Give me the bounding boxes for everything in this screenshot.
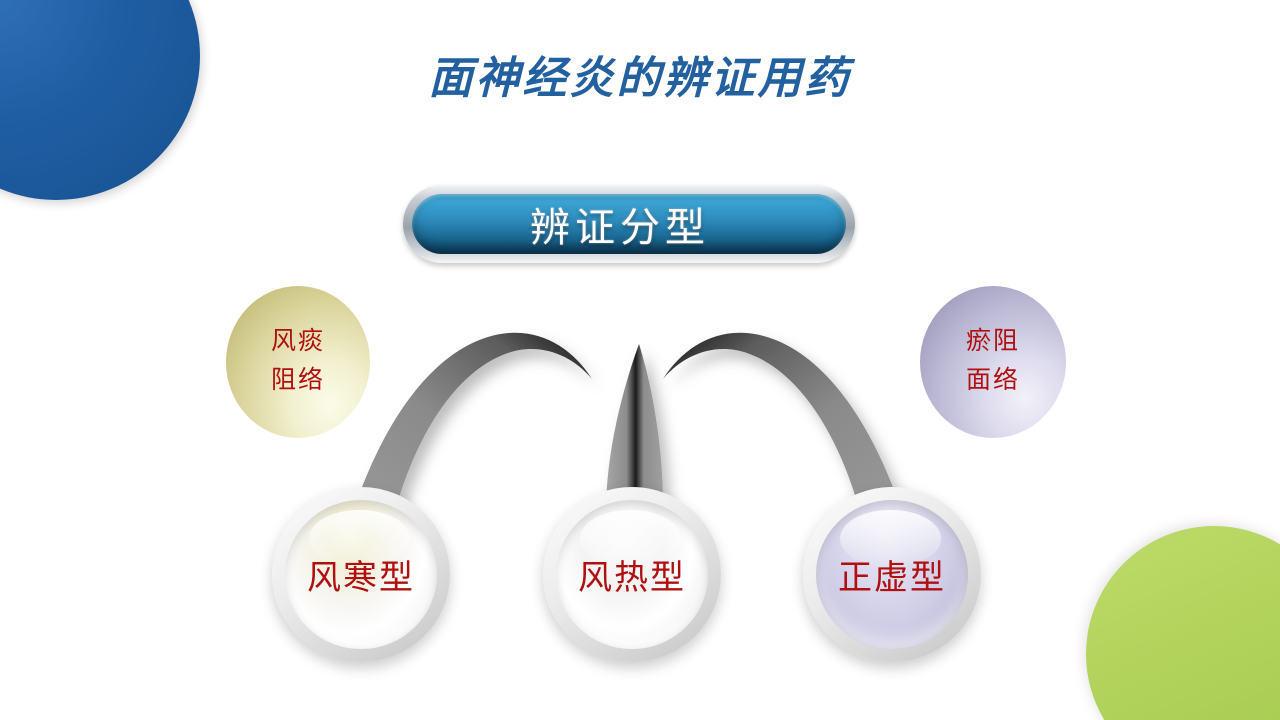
node-deficiency-type[interactable]: 正虚型: [803, 487, 981, 662]
node-wind-cold-type[interactable]: 风寒型: [272, 487, 450, 662]
green-corner-blob: [1086, 526, 1280, 720]
node-wind-cold-type-label: 风寒型: [307, 550, 415, 599]
node-wind-phlegm-line1: 风痰: [271, 323, 325, 362]
node-wind-phlegm-line2: 阻络: [271, 362, 325, 401]
node-wind-heat-type-core: 风热型: [556, 500, 708, 649]
node-blood-stasis[interactable]: 瘀阻 面络: [920, 286, 1066, 438]
node-blood-stasis-line2: 面络: [966, 362, 1020, 401]
node-blood-stasis-line1: 瘀阻: [966, 323, 1020, 362]
section-banner: 辨证分型: [403, 185, 855, 263]
section-banner-fill: 辨证分型: [412, 194, 846, 254]
slide-canvas: 面神经炎的辨证用药 辨证分型: [0, 0, 1280, 720]
section-banner-label: 辨证分型: [530, 195, 710, 253]
node-wind-heat-type-label: 风热型: [578, 550, 686, 599]
page-title: 面神经炎的辨证用药: [0, 42, 1280, 106]
node-wind-cold-type-core: 风寒型: [285, 500, 437, 649]
node-deficiency-type-label: 正虚型: [838, 550, 946, 599]
node-wind-phlegm[interactable]: 风痰 阻络: [226, 286, 370, 438]
node-wind-heat-type[interactable]: 风热型: [543, 487, 721, 662]
node-deficiency-type-core: 正虚型: [816, 500, 968, 649]
